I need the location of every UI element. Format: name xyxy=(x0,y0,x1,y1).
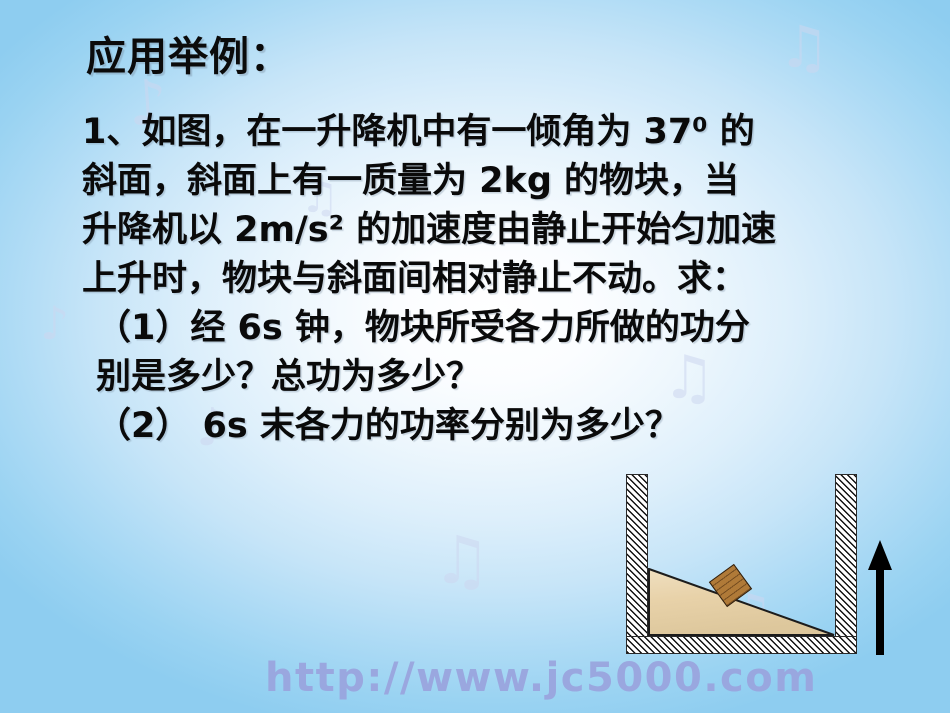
container-right-wall xyxy=(835,474,857,654)
problem-line: 别是多少？总功为多少？ xyxy=(82,353,922,402)
container-bottom-wall xyxy=(626,636,857,654)
problem-line: （2） 6s 末各力的功率分别为多少？ xyxy=(82,402,922,451)
site-watermark: http://www.jc5000.com xyxy=(265,655,817,701)
music-note-icon: ♪ xyxy=(40,300,69,346)
container-left-wall xyxy=(626,474,648,654)
problem-line: 升降机以 2m/s² 的加速度由静止开始匀加速 xyxy=(82,206,922,255)
problem-line: 1、如图，在一升降机中有一倾角为 37⁰ 的 xyxy=(82,108,922,157)
problem-text-block: 1、如图，在一升降机中有一倾角为 37⁰ 的 斜面，斜面上有一质量为 2kg 的… xyxy=(82,108,922,451)
page-title: 应用举例： xyxy=(86,24,291,82)
music-note-icon: ♫ xyxy=(432,528,491,594)
problem-line: 上升时，物块与斜面间相对静止不动。求： xyxy=(82,255,922,304)
problem-line: （1）经 6s 钟，物块所受各力所做的功分 xyxy=(82,304,922,353)
music-note-icon: ♫ xyxy=(778,18,830,76)
problem-line: 斜面，斜面上有一质量为 2kg 的物块，当 xyxy=(82,157,922,206)
physics-diagram xyxy=(612,470,912,670)
upward-acceleration-arrow xyxy=(867,540,893,655)
slide-canvas: ♪♫♫♫♪♫♪♫ 应用举例： 1、如图，在一升降机中有一倾角为 37⁰ 的 斜面… xyxy=(0,0,950,713)
